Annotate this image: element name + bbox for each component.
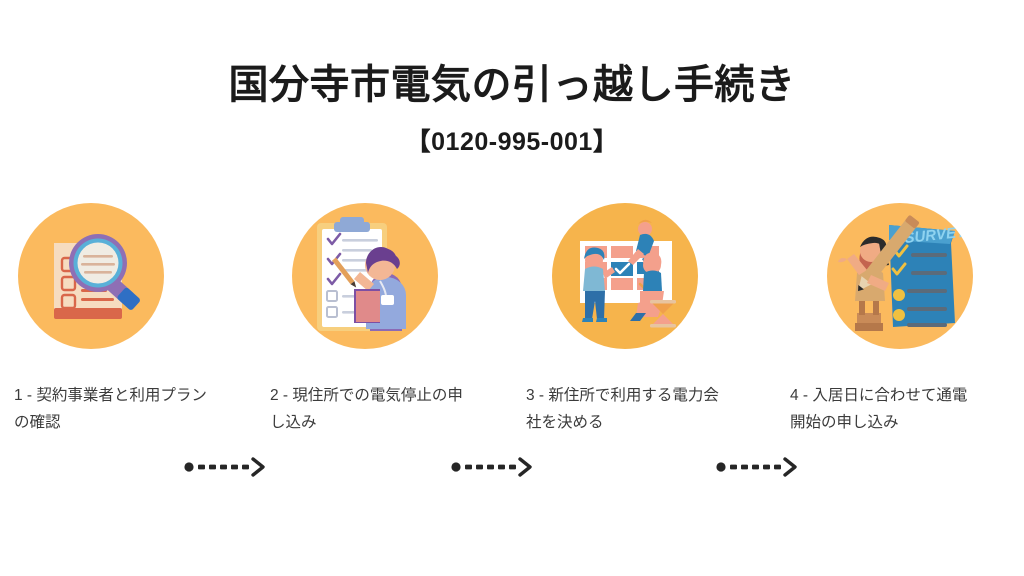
page-title: 国分寺市電気の引っ越し手続き	[0, 62, 1024, 108]
people-calendar-board-icon	[552, 203, 698, 349]
step-3-icon-circle	[552, 203, 698, 349]
step-4-icon-circle: SURVEY	[827, 203, 973, 349]
dotted-arrow-right-icon	[184, 455, 268, 479]
dotted-arrow-right-icon	[716, 455, 800, 479]
person-clipboard-icon	[292, 203, 438, 349]
step-3-caption: 3 - 新住所で利用する電力会社を決める	[526, 383, 726, 436]
process-steps: 1 - 契約事業者と利用プランの確認	[0, 203, 1024, 503]
dotted-arrow-right-icon	[451, 455, 535, 479]
step-1: 1 - 契約事業者と利用プランの確認	[14, 203, 264, 436]
person-survey-form-icon: SURVEY	[827, 203, 973, 349]
arrow-step2-to-step3	[451, 455, 535, 479]
step-2-icon-circle	[292, 203, 438, 349]
document-magnifier-icon	[18, 203, 164, 349]
phone-number-subtitle: 【0120-995-001】	[0, 122, 1024, 158]
step-4-caption: 4 - 入居日に合わせて通電開始の申し込み	[790, 383, 975, 436]
step-3: 3 - 新住所で利用する電力会社を決める	[526, 203, 776, 436]
arrow-step3-to-step4	[716, 455, 800, 479]
header: 国分寺市電気の引っ越し手続き 【0120-995-001】	[0, 62, 1024, 158]
step-2-caption: 2 - 現住所での電気停止の申し込み	[270, 383, 470, 436]
step-1-caption: 1 - 契約事業者と利用プランの確認	[14, 383, 214, 436]
arrow-step1-to-step2	[184, 455, 268, 479]
step-2: 2 - 現住所での電気停止の申し込み	[270, 203, 520, 436]
step-4: SURVEY	[790, 203, 1024, 436]
step-1-icon-circle	[18, 203, 164, 349]
